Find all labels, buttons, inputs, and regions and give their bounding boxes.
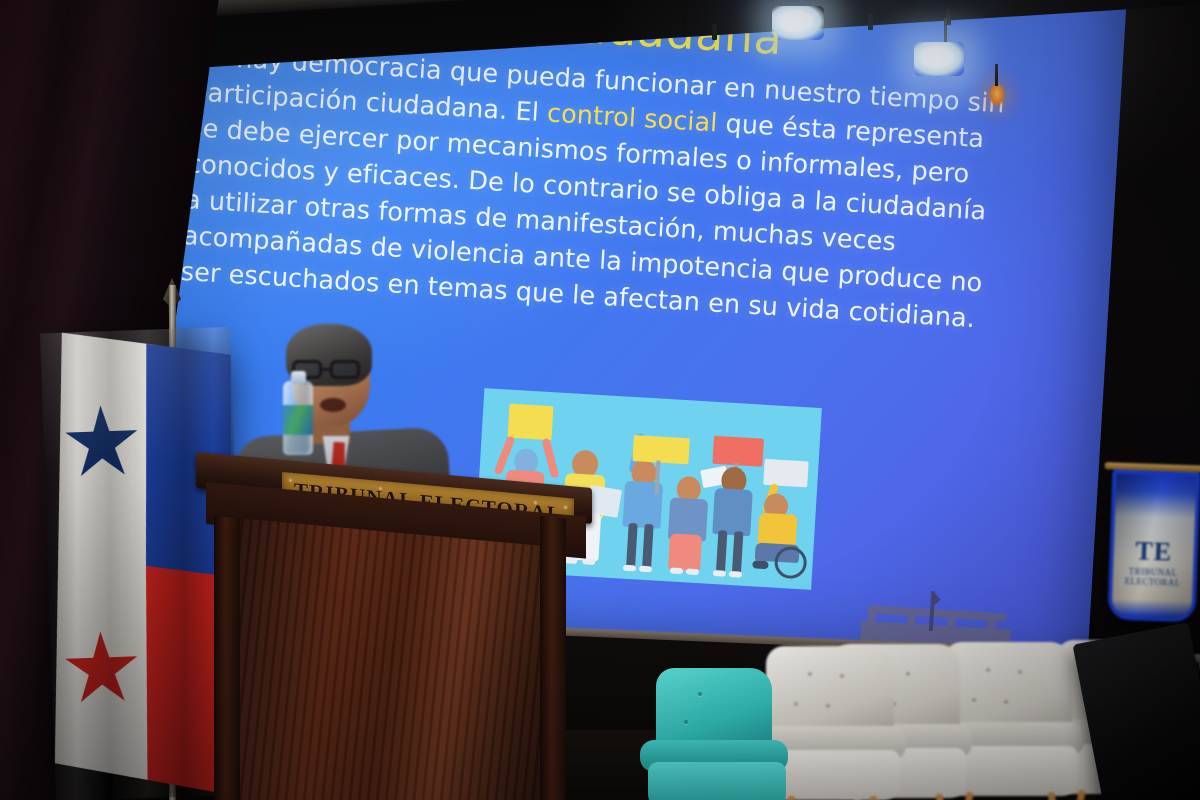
slide-highlight-control-social: control social bbox=[546, 98, 718, 138]
bottle-cap bbox=[291, 371, 306, 384]
amber-light-stem bbox=[995, 64, 998, 86]
amber-accent-light bbox=[989, 84, 1005, 106]
bottle-label bbox=[283, 405, 313, 435]
slide-body-text: No hay democracia que pueda funcionar en… bbox=[180, 38, 1014, 338]
stage-light-stem bbox=[944, 18, 947, 44]
rail-clip-icon bbox=[868, 14, 873, 30]
conference-stage-scene: Participación Ciudadana No hay democraci… bbox=[0, 0, 1200, 800]
speaker-podium: TRIBUNAL ELECTORAL bbox=[196, 452, 592, 800]
eyeglasses-icon bbox=[330, 360, 360, 379]
podium-pillar-right bbox=[540, 516, 566, 800]
accent-armchair bbox=[640, 668, 800, 800]
eyeglasses-bridge bbox=[322, 368, 332, 371]
stage-light-right bbox=[914, 42, 964, 76]
banner-cloth: TE TRIBUNAL ELECTORAL bbox=[1107, 470, 1200, 623]
slide-body-part-3: que ésta representa se debe ejercer por … bbox=[180, 108, 987, 334]
banner-shading bbox=[1112, 474, 1197, 619]
tribunal-electoral-banner: TE TRIBUNAL ELECTORAL bbox=[1103, 462, 1200, 627]
podium-front-panel bbox=[214, 516, 566, 800]
rail-clip-icon bbox=[712, 24, 717, 40]
water-bottle bbox=[283, 371, 313, 455]
podium-pillar-left bbox=[214, 516, 240, 800]
stage-light-left bbox=[772, 6, 824, 40]
speaker-mouth bbox=[320, 398, 346, 412]
